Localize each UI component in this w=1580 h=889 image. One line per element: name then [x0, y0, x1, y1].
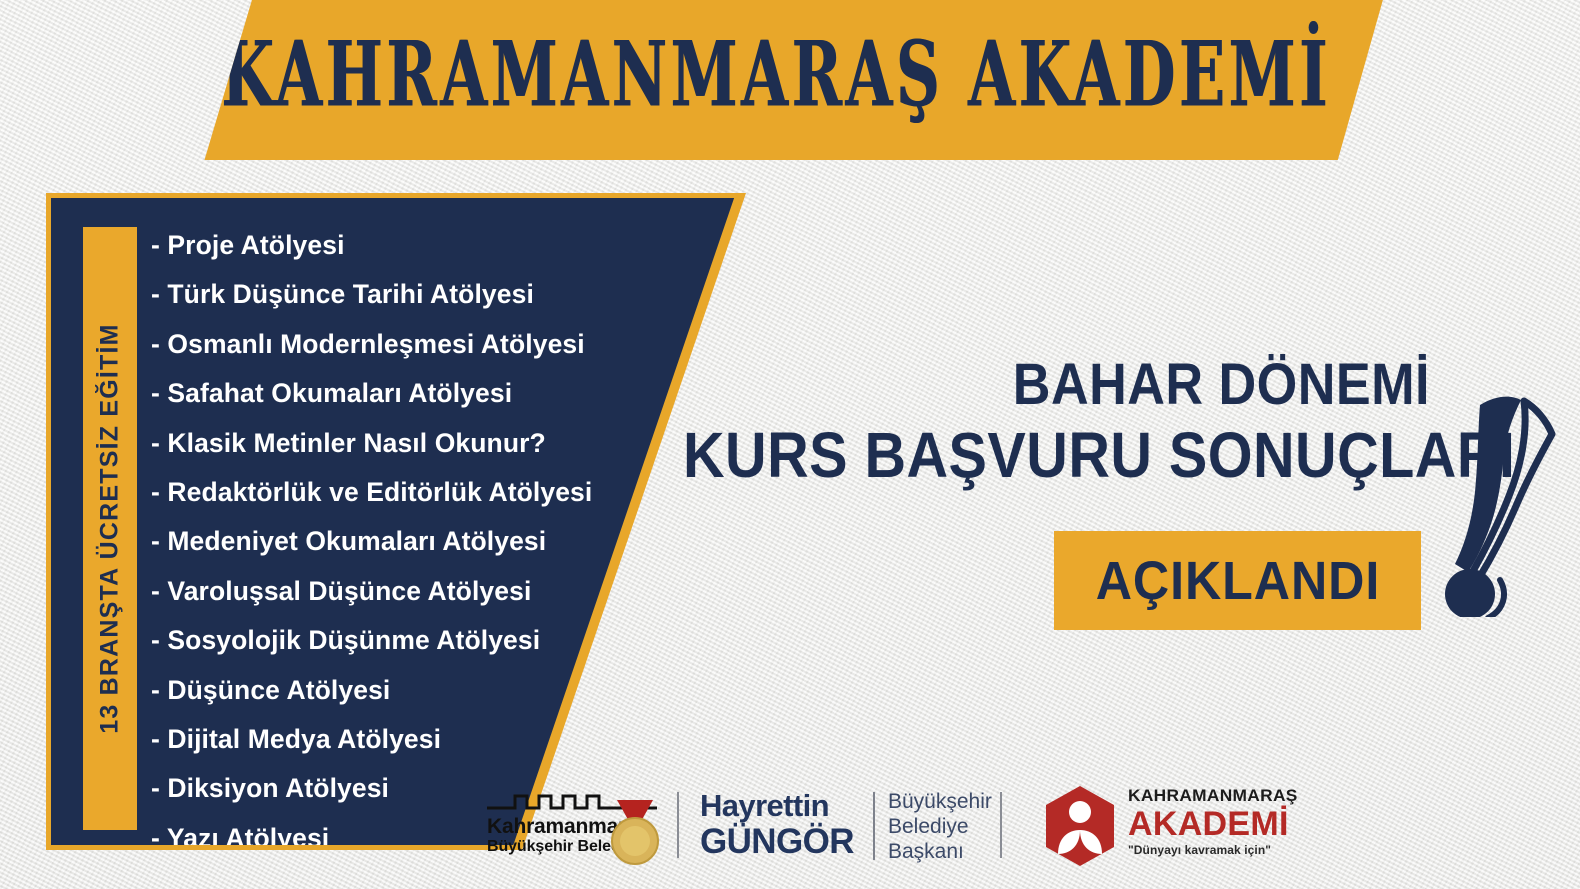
- academy-tagline: "Dünyayı kavramak için": [1128, 843, 1294, 857]
- list-item: - Varoluşsal Düşünce Atölyesi: [151, 567, 711, 616]
- footer-divider-2: [1000, 792, 1002, 858]
- free-education-label: 13 BRANŞTA ÜCRETSİZ EĞİTİM: [96, 323, 125, 733]
- free-education-bar: 13 BRANŞTA ÜCRETSİZ EĞİTİM: [83, 227, 137, 830]
- mayor-first-name: Hayrettin: [700, 788, 829, 824]
- status-badge-label: AÇIKLANDI: [1095, 550, 1380, 612]
- hexagon-figure-icon: [1040, 784, 1120, 868]
- headline-line-1: BAHAR DÖNEMİ: [683, 352, 1430, 418]
- header-banner: KAHRAMANMARAŞ AKADEMİ: [168, 0, 1384, 160]
- workshop-panel: 13 BRANŞTA ÜCRETSİZ EĞİTİM - Proje Atöly…: [46, 193, 746, 850]
- list-item: - Türk Düşünce Tarihi Atölyesi: [151, 270, 711, 319]
- footer-logos: Kahramanmaraş Büyükşehir Belediyesi Hayr…: [0, 778, 1580, 878]
- list-item: - Düşünce Atölyesi: [151, 666, 711, 715]
- exclamation-mark-icon: [1424, 392, 1574, 617]
- list-item: - Proje Atölyesi: [151, 221, 711, 270]
- municipality-logo: Kahramanmaraş Büyükşehir Belediyesi: [487, 784, 657, 872]
- academy-logo: KAHRAMANMARAŞ AKADEMİ "Dünyayı kavramak …: [1040, 780, 1270, 872]
- workshop-list: - Proje Atölyesi - Türk Düşünce Tarihi A…: [151, 221, 711, 863]
- academy-line-1: KAHRAMANMARAŞ: [1128, 786, 1298, 806]
- banner-title: KAHRAMANMARAŞ AKADEMİ: [221, 30, 1331, 126]
- headline-block: BAHAR DÖNEMİ KURS BAŞVURU SONUÇLARI: [600, 352, 1430, 492]
- poster-canvas: KAHRAMANMARAŞ AKADEMİ 13 BRANŞTA ÜCRETSİ…: [0, 0, 1580, 889]
- status-badge: AÇIKLANDI: [1054, 531, 1421, 630]
- mayor-last-name: GÜNGÖR: [700, 822, 854, 862]
- mayor-logo: Hayrettin GÜNGÖR Büyükşehir Belediye Baş…: [700, 786, 980, 870]
- list-item: - Sosyolojik Düşünme Atölyesi: [151, 616, 711, 665]
- mayor-role-line: Büyükşehir: [888, 789, 992, 814]
- workshop-panel-inner: 13 BRANŞTA ÜCRETSİZ EĞİTİM - Proje Atöly…: [51, 198, 741, 845]
- mayor-role: Büyükşehir Belediye Başkanı: [888, 789, 992, 864]
- medal-icon: [605, 788, 665, 868]
- list-item: - Dijital Medya Atölyesi: [151, 715, 711, 764]
- academy-line-2: AKADEMİ: [1128, 806, 1294, 842]
- mayor-name-divider: [873, 792, 875, 860]
- mayor-role-line: Belediye: [888, 814, 992, 839]
- footer-divider-1: [677, 792, 679, 858]
- mayor-role-line: Başkanı: [888, 839, 992, 864]
- academy-text: KAHRAMANMARAŞ AKADEMİ "Dünyayı kavramak …: [1128, 786, 1294, 857]
- list-item: - Medeniyet Okumaları Atölyesi: [151, 517, 711, 566]
- headline-line-2: KURS BAŞVURU SONUÇLARI: [683, 418, 1430, 492]
